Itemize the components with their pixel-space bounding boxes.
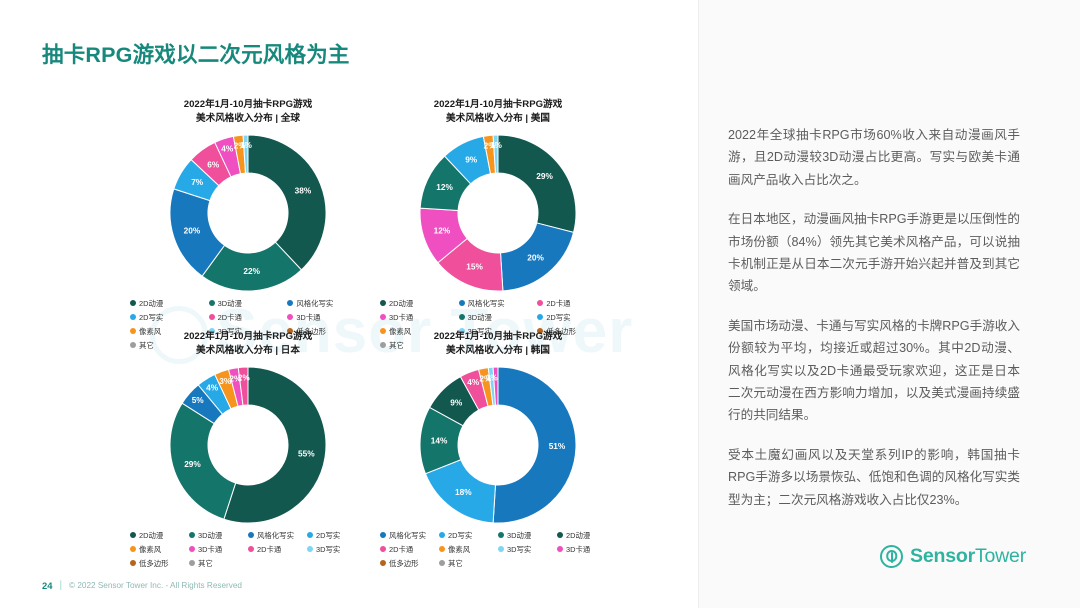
chart-legend: 风格化写实2D写实3D动漫2D动漫2D卡通像素风3D写实3D卡通低多边形其它 xyxy=(380,530,616,569)
legend-color-dot-icon xyxy=(380,546,386,552)
legend-label: 3D卡通 xyxy=(389,312,413,323)
legend-item[interactable]: 2D写实 xyxy=(130,312,209,323)
legend-item[interactable]: 2D卡通 xyxy=(209,312,288,323)
legend-label: 2D动漫 xyxy=(139,298,163,309)
slice-label: 1% xyxy=(240,140,253,150)
slice-label: 7% xyxy=(191,177,204,187)
legend-label: 3D卡通 xyxy=(296,312,320,323)
footer-separator: | xyxy=(59,580,62,591)
legend-color-dot-icon xyxy=(189,560,195,566)
slice-label: 18% xyxy=(455,487,472,497)
slice-label: 20% xyxy=(184,225,201,235)
chart-title-line1: 2022年1月-10月抽卡RPG游戏 xyxy=(373,330,623,344)
legend-label: 风格化写实 xyxy=(389,530,426,541)
donut-slice xyxy=(248,135,326,270)
legend-label: 3D卡通 xyxy=(198,544,222,555)
legend-color-dot-icon xyxy=(439,532,445,538)
legend-item[interactable]: 2D动漫 xyxy=(557,530,616,541)
legend-color-dot-icon xyxy=(209,314,215,320)
slice-label: 29% xyxy=(184,459,201,469)
legend-color-dot-icon xyxy=(439,560,445,566)
legend-color-dot-icon xyxy=(248,532,254,538)
chart-title: 2022年1月-10月抽卡RPG游戏 美术风格收入分布 | 美国 xyxy=(373,98,623,126)
footer: 24 | © 2022 Sensor Tower Inc. - All Righ… xyxy=(42,580,242,591)
slice-label: 5% xyxy=(192,395,205,405)
legend-label: 3D写实 xyxy=(507,544,531,555)
legend-item[interactable]: 3D动漫 xyxy=(209,298,288,309)
legend-item[interactable]: 2D动漫 xyxy=(380,298,459,309)
slice-label: 9% xyxy=(465,154,478,164)
slice-label: 4% xyxy=(221,143,234,153)
slice-label: 12% xyxy=(436,182,453,192)
legend-color-dot-icon xyxy=(130,546,136,552)
chart-title-line2: 美术风格收入分布 | 韩国 xyxy=(373,344,623,358)
sensor-tower-logo: SensorTower xyxy=(880,545,1026,568)
legend-color-dot-icon xyxy=(498,532,504,538)
legend-color-dot-icon xyxy=(380,300,386,306)
chart-title-line1: 2022年1月-10月抽卡RPG游戏 xyxy=(373,98,623,112)
legend-label: 3D动漫 xyxy=(468,312,492,323)
logo-name-light: Tower xyxy=(975,545,1026,567)
legend-label: 风格化写实 xyxy=(257,530,294,541)
legend-color-dot-icon xyxy=(380,532,386,538)
legend-label: 2D写实 xyxy=(316,530,340,541)
slice-label: 14% xyxy=(431,435,448,445)
legend-label: 风格化写实 xyxy=(296,298,333,309)
legend-color-dot-icon xyxy=(307,532,313,538)
legend-item[interactable]: 3D写实 xyxy=(498,544,557,555)
slice-label: 2% xyxy=(238,372,251,382)
legend-color-dot-icon xyxy=(209,300,215,306)
legend-item[interactable]: 3D卡通 xyxy=(557,544,616,555)
slice-label: 12% xyxy=(434,225,451,235)
legend-item[interactable]: 其它 xyxy=(189,558,248,569)
legend-item[interactable]: 2D卡通 xyxy=(248,544,307,555)
legend-label: 3D写实 xyxy=(316,544,340,555)
legend-color-dot-icon xyxy=(537,300,543,306)
legend-item[interactable]: 2D动漫 xyxy=(130,530,189,541)
legend-color-dot-icon xyxy=(459,300,465,306)
legend-label: 2D动漫 xyxy=(139,530,163,541)
legend-color-dot-icon xyxy=(248,546,254,552)
legend-color-dot-icon xyxy=(287,314,293,320)
copyright-text: © 2022 Sensor Tower Inc. - All Rights Re… xyxy=(69,581,242,590)
legend-color-dot-icon xyxy=(498,546,504,552)
legend-color-dot-icon xyxy=(380,560,386,566)
page-number: 24 xyxy=(42,580,52,591)
chart-title: 2022年1月-10月抽卡RPG游戏 美术风格收入分布 | 韩国 xyxy=(373,330,623,358)
legend-color-dot-icon xyxy=(130,532,136,538)
legend-label: 2D卡通 xyxy=(218,312,242,323)
chart-korea: 2022年1月-10月抽卡RPG游戏 美术风格收入分布 | 韩国 51%18%1… xyxy=(338,330,658,569)
slice-label: 51% xyxy=(549,441,566,451)
legend-color-dot-icon xyxy=(557,546,563,552)
legend-label: 像素风 xyxy=(139,544,161,555)
legend-item[interactable]: 低多边形 xyxy=(130,558,189,569)
chart-title-line2: 美术风格收入分布 | 日本 xyxy=(123,344,373,358)
legend-color-dot-icon xyxy=(130,560,136,566)
slice-label: 20% xyxy=(527,253,544,263)
chart-title-line1: 2022年1月-10月抽卡RPG游戏 xyxy=(123,330,373,344)
donut-chart: 51%18%14%9%4%2%1% xyxy=(373,364,623,526)
legend-item[interactable]: 2D写实 xyxy=(439,530,498,541)
slice-label: 15% xyxy=(466,261,483,271)
legend-color-dot-icon xyxy=(537,314,543,320)
slice-label: 9% xyxy=(450,397,463,407)
legend-item[interactable]: 像素风 xyxy=(130,544,189,555)
slice-label: 1% xyxy=(486,372,499,382)
legend-item[interactable]: 风格化写实 xyxy=(380,530,439,541)
legend-item[interactable]: 低多边形 xyxy=(380,558,439,569)
slice-label: 4% xyxy=(467,377,480,387)
legend-label: 2D写实 xyxy=(448,530,472,541)
donut-chart: 55%29%5%4%3%2%2% xyxy=(123,364,373,526)
chart-title-line1: 2022年1月-10月抽卡RPG游戏 xyxy=(123,98,373,112)
chart-title-line2: 美术风格收入分布 | 美国 xyxy=(373,112,623,126)
legend-label: 2D卡通 xyxy=(546,298,570,309)
legend-item[interactable]: 3D卡通 xyxy=(189,544,248,555)
legend-item[interactable]: 2D卡通 xyxy=(537,298,616,309)
donut-slice xyxy=(170,403,236,519)
chart-title: 2022年1月-10月抽卡RPG游戏 美术风格收入分布 | 日本 xyxy=(123,330,373,358)
paragraph: 在日本地区，动漫画风抽卡RPG手游更是以压倒性的市场份额（84%）领先其它美术风… xyxy=(728,208,1020,298)
slide-root: Sensor Tower 抽卡RPG游戏以二次元风格为主 2022年1月-10月… xyxy=(0,0,1080,608)
legend-color-dot-icon xyxy=(380,314,386,320)
legend-item[interactable]: 其它 xyxy=(439,558,498,569)
legend-item[interactable]: 3D动漫 xyxy=(459,312,538,323)
donut-chart: 38%22%20%7%6%4%2%1% xyxy=(123,132,373,294)
paragraph: 2022年全球抽卡RPG市场60%收入来自动漫画风手游，且2D动漫较3D动漫占比… xyxy=(728,124,1020,191)
legend-label: 像素风 xyxy=(448,544,470,555)
slice-label: 55% xyxy=(298,448,315,458)
chart-legend: 2D动漫3D动漫风格化写实2D写实像素风3D卡通2D卡通3D写实低多边形其它 xyxy=(130,530,366,569)
legend-color-dot-icon xyxy=(307,546,313,552)
slice-label: 6% xyxy=(207,159,220,169)
legend-label: 其它 xyxy=(448,558,463,569)
legend-label: 2D写实 xyxy=(139,312,163,323)
legend-color-dot-icon xyxy=(459,314,465,320)
slice-label: 22% xyxy=(243,266,260,276)
legend-color-dot-icon xyxy=(287,300,293,306)
legend-item[interactable]: 2D动漫 xyxy=(130,298,209,309)
donut-slice xyxy=(498,135,576,232)
slice-label: 29% xyxy=(536,171,553,181)
page-title: 抽卡RPG游戏以二次元风格为主 xyxy=(42,38,350,69)
legend-color-dot-icon xyxy=(130,314,136,320)
sensor-tower-mark-icon xyxy=(880,545,903,568)
legend-label: 2D写实 xyxy=(546,312,570,323)
legend-label: 3D卡通 xyxy=(566,544,590,555)
legend-item[interactable]: 2D卡通 xyxy=(380,544,439,555)
slice-label: 4% xyxy=(206,382,219,392)
legend-label: 风格化写实 xyxy=(468,298,505,309)
legend-item[interactable]: 3D动漫 xyxy=(498,530,557,541)
legend-label: 2D动漫 xyxy=(566,530,590,541)
legend-color-dot-icon xyxy=(557,532,563,538)
donut-chart: 29%20%15%12%12%9%2%1% xyxy=(373,132,623,294)
paragraph: 美国市场动漫、卡通与写实风格的卡牌RPG手游收入份额较为平均，均接近或超过30%… xyxy=(728,315,1020,427)
paragraph: 受本土魔幻画风以及天堂系列IP的影响，韩国抽卡RPG手游多以场景恢弘、低饱和色调… xyxy=(728,444,1020,511)
legend-label: 低多边形 xyxy=(389,558,419,569)
legend-label: 2D卡通 xyxy=(257,544,281,555)
legend-label: 3D动漫 xyxy=(198,530,222,541)
legend-label: 其它 xyxy=(198,558,213,569)
legend-label: 3D动漫 xyxy=(218,298,242,309)
slice-label: 1% xyxy=(490,140,503,150)
legend-label: 低多边形 xyxy=(139,558,169,569)
chart-title-line2: 美术风格收入分布 | 全球 xyxy=(123,112,373,126)
legend-color-dot-icon xyxy=(189,546,195,552)
chart-us: 2022年1月-10月抽卡RPG游戏 美术风格收入分布 | 美国 29%20%1… xyxy=(338,98,658,351)
analysis-text: 2022年全球抽卡RPG市场60%收入来自动漫画风手游，且2D动漫较3D动漫占比… xyxy=(728,124,1020,511)
legend-item[interactable]: 3D卡通 xyxy=(380,312,459,323)
logo-text: SensorTower xyxy=(910,545,1026,568)
chart-title: 2022年1月-10月抽卡RPG游戏 美术风格收入分布 | 全球 xyxy=(123,98,373,126)
legend-color-dot-icon xyxy=(130,300,136,306)
legend-label: 3D动漫 xyxy=(507,530,531,541)
legend-label: 2D动漫 xyxy=(389,298,413,309)
legend-item[interactable]: 2D写实 xyxy=(537,312,616,323)
logo-name-bold: Sensor xyxy=(910,545,975,567)
slice-label: 38% xyxy=(295,185,312,195)
legend-item[interactable]: 风格化写实 xyxy=(248,530,307,541)
legend-label: 2D卡通 xyxy=(389,544,413,555)
legend-item[interactable]: 3D动漫 xyxy=(189,530,248,541)
legend-item[interactable]: 风格化写实 xyxy=(459,298,538,309)
legend-color-dot-icon xyxy=(439,546,445,552)
legend-color-dot-icon xyxy=(189,532,195,538)
legend-item[interactable]: 像素风 xyxy=(439,544,498,555)
